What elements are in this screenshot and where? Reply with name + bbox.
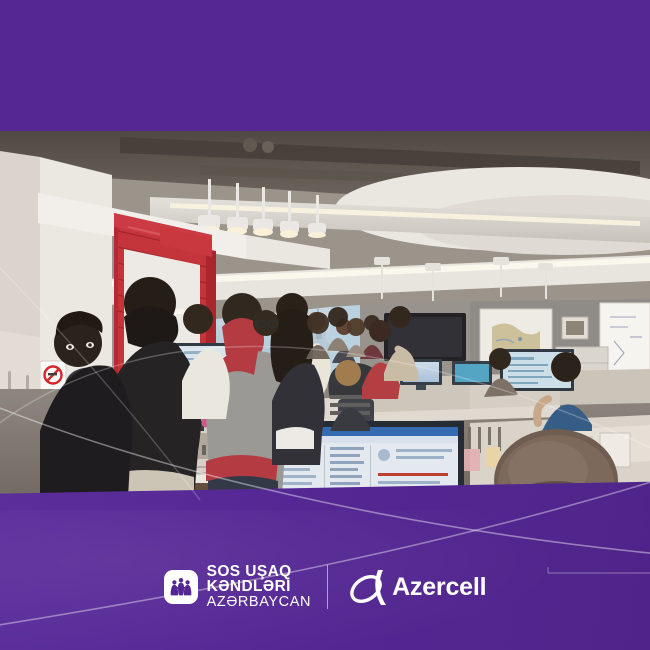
azercell-wordmark: Azercell <box>392 573 486 602</box>
azercell-alpha-swirl-icon <box>344 565 396 609</box>
office-photo-illustration <box>0 131 650 498</box>
social-media-card: SOS UŞAQ KƏNDLƏRİ AZƏRBAYCAN Azercell <box>0 0 650 650</box>
sos-logo-line-1: SOS UŞAQ <box>207 564 311 580</box>
sos-icon-glyph <box>168 574 194 600</box>
logo-divider <box>327 565 328 609</box>
top-banner-arc-decoration <box>0 0 650 131</box>
logo-row: SOS UŞAQ KƏNDLƏRİ AZƏRBAYCAN Azercell <box>0 558 650 616</box>
sos-logo-line-2: KƏNDLƏRİ <box>207 579 311 595</box>
office-photo <box>0 131 650 498</box>
sos-logo-line-3: AZƏRBAYCAN <box>207 595 311 611</box>
sos-logo[interactable]: SOS UŞAQ KƏNDLƏRİ AZƏRBAYCAN <box>164 564 311 611</box>
azercell-logo[interactable]: Azercell <box>344 565 486 609</box>
top-banner <box>0 0 650 131</box>
sos-logo-text: SOS UŞAQ KƏNDLƏRİ AZƏRBAYCAN <box>207 564 311 611</box>
sos-children-figures-icon <box>164 570 198 604</box>
azercell-icon-glyph <box>344 565 396 609</box>
